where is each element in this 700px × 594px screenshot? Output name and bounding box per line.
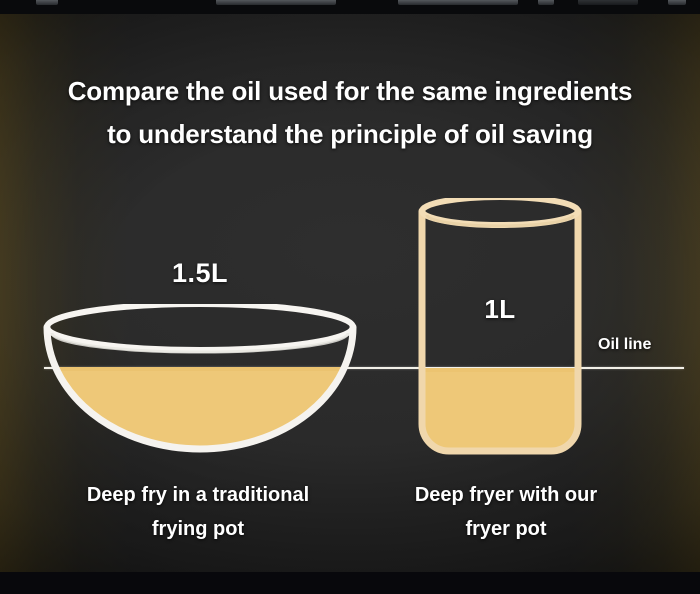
chrome-fragment <box>216 0 336 5</box>
cropped-bottom-chrome-band <box>0 572 700 594</box>
bowl-rim-ellipse <box>47 304 353 350</box>
caption-right-line-2: fryer pot <box>382 512 630 546</box>
caption-fryer-pot: Deep fryer with our fryer pot <box>382 478 630 546</box>
chrome-fragment <box>398 0 518 5</box>
caption-right-line-1: Deep fryer with our <box>382 478 630 512</box>
caption-left-line-2: frying pot <box>26 512 370 546</box>
chrome-fragment <box>578 0 638 5</box>
pot-volume-label: 1L <box>414 294 586 325</box>
headline-line-1: Compare the oil used for the same ingred… <box>0 70 700 113</box>
traditional-bowl-illustration <box>40 304 360 456</box>
chrome-fragment <box>538 0 554 5</box>
oil-line-label: Oil line <box>598 336 651 354</box>
oil-comparison-infographic: Compare the oil used for the same ingred… <box>0 0 700 594</box>
caption-left-line-1: Deep fry in a traditional <box>26 478 370 512</box>
headline: Compare the oil used for the same ingred… <box>0 70 700 156</box>
bowl-volume-label: 1.5L <box>40 258 360 289</box>
caption-traditional-pot: Deep fry in a traditional frying pot <box>26 478 370 546</box>
chrome-fragment <box>668 0 686 5</box>
headline-line-2: to understand the principle of oil savin… <box>0 113 700 156</box>
chrome-fragment <box>36 0 58 5</box>
cropped-top-chrome-band <box>0 0 700 14</box>
fryer-pot-illustration <box>414 198 586 460</box>
